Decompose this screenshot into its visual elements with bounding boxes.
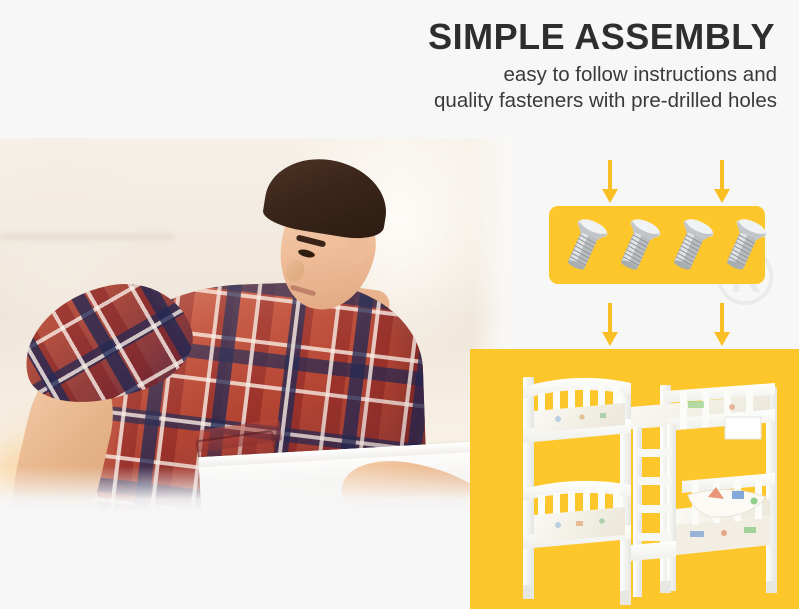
bunk-bed-illustration	[470, 349, 799, 609]
fastener-panel	[549, 206, 765, 284]
subtitle-line-2: quality fasteners with pre-drilled holes	[219, 88, 777, 114]
header-block: SIMPLE ASSEMBLY easy to follow instructi…	[219, 18, 779, 114]
assembly-photo	[0, 138, 512, 512]
bolt-3	[669, 214, 715, 270]
head	[266, 160, 388, 310]
bolt-4	[722, 214, 768, 270]
page-title: SIMPLE ASSEMBLY	[219, 18, 779, 56]
bolt-1	[563, 214, 609, 270]
photo-fade-bottom	[0, 466, 512, 512]
bunk-bed-panel	[470, 349, 799, 609]
arrow-bottom-left	[600, 303, 620, 347]
arrow-bottom-right	[712, 303, 732, 347]
subtitle-line-1: easy to follow instructions and	[219, 62, 777, 88]
page-subtitle: easy to follow instructions and quality …	[219, 62, 779, 114]
arrow-top-right	[712, 160, 732, 204]
promo-banner: opia ® SIMPLE ASSEMBLY easy to follow in…	[0, 0, 799, 609]
man-figure	[0, 138, 512, 512]
hair	[261, 151, 393, 243]
arrow-top-left	[600, 160, 620, 204]
bolt-2	[616, 214, 662, 270]
